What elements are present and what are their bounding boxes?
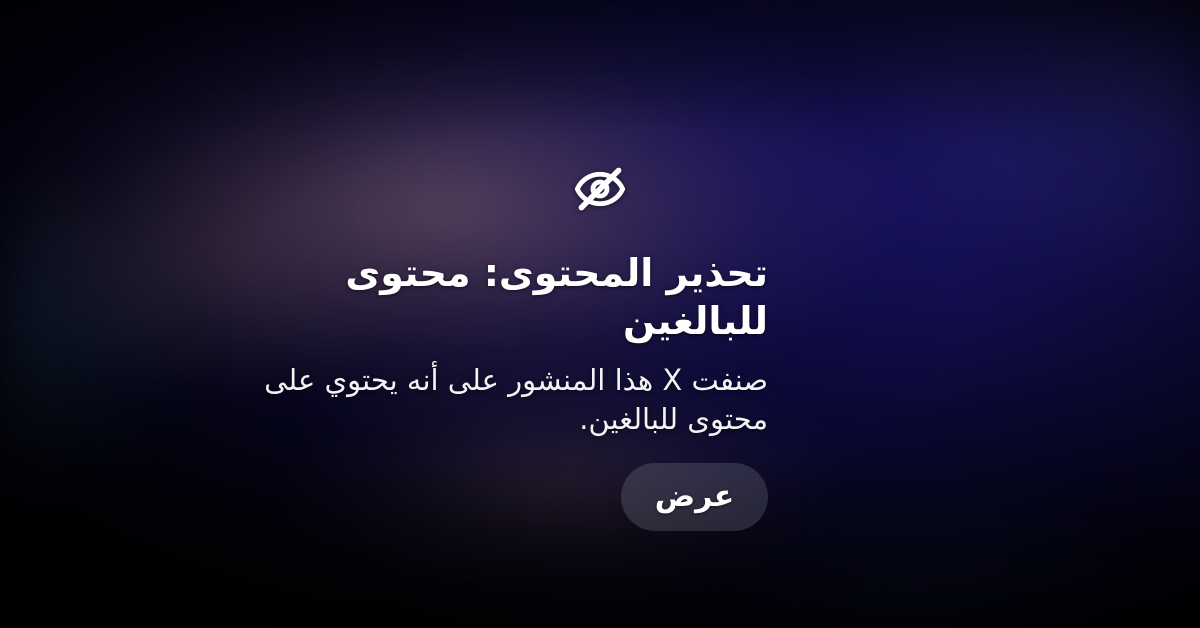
warning-content-block: تحذير المحتوى: محتوى للبالغين صنفت X هذا… — [205, 150, 995, 531]
warning-description: صنفت X هذا المنشور على أنه يحتوي على محت… — [205, 361, 995, 439]
eye-off-icon — [571, 160, 629, 218]
warning-overlay: تحذير المحتوى: محتوى للبالغين صنفت X هذا… — [0, 0, 1200, 628]
sensitive-content-warning-screen: تحذير المحتوى: محتوى للبالغين صنفت X هذا… — [0, 0, 1200, 628]
warning-action-row: عرض — [205, 463, 995, 531]
view-content-button[interactable]: عرض — [621, 463, 768, 531]
warning-title: تحذير المحتوى: محتوى للبالغين — [205, 250, 995, 345]
